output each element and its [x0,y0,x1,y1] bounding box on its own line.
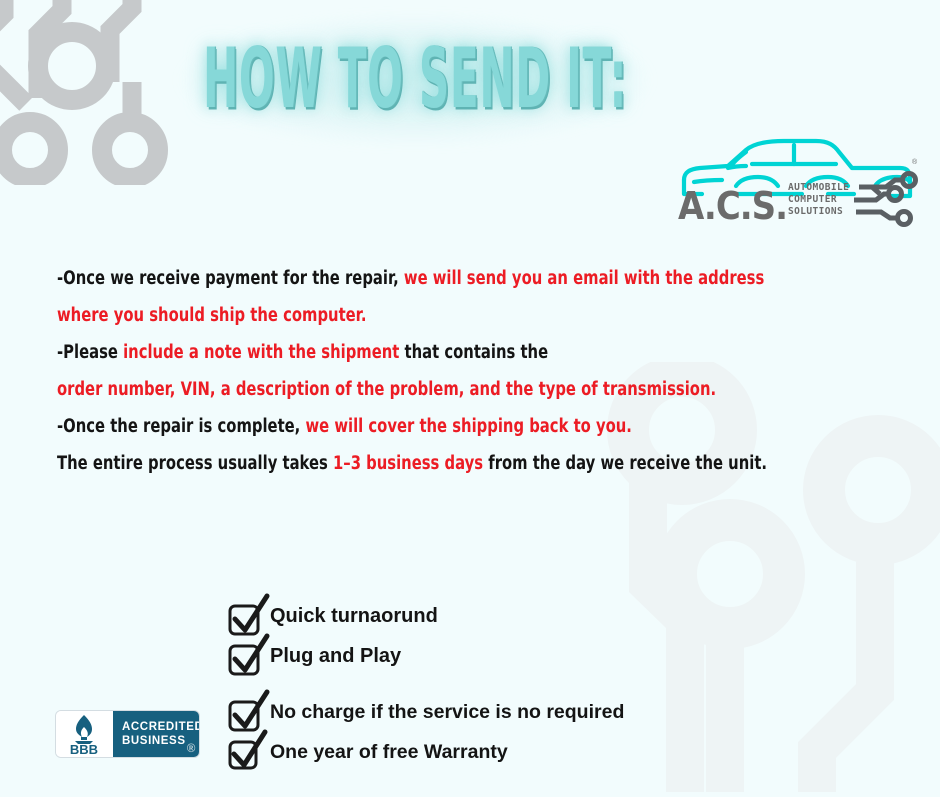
instruction-line-5-red: we will cover the shipping back to you. [300,416,632,437]
instruction-line-6: The entire process usually takes 1–3 bus… [57,453,867,474]
instructions-block: -Once we receive payment for the repair,… [57,268,867,474]
benefits-checklist: Quick turnaorund Plug and Play No charge… [226,596,624,772]
checkbox-checked-icon [226,636,268,676]
instruction-line-1-red: we will send you an email with the addre… [399,268,765,289]
svg-text:BBB: BBB [70,742,98,757]
checkbox-checked-icon [226,692,268,732]
checkbox-checked-icon [226,732,268,772]
instruction-line-1: -Once we receive payment for the repair,… [57,268,867,289]
bbb-accredited-business-badge[interactable]: BBB ACCREDITED BUSINESS ® [56,711,199,757]
instruction-line-4-red: order number, VIN, a description of the … [57,379,716,400]
list-item: Quick turnaorund [226,596,624,636]
page-title-text: HOW TO SEND IT: [158,39,673,122]
instruction-line-2-red: where you should ship the computer. [57,305,367,326]
list-item: No charge if the service is no required [226,692,624,732]
list-item-label: No charge if the service is no required [270,701,624,724]
checkbox-checked-icon [226,596,268,636]
svg-text:SOLUTIONS: SOLUTIONS [788,206,843,217]
svg-text:AUTOMOBILE: AUTOMOBILE [788,182,849,193]
instruction-line-6-black-b: from the day we receive the unit. [483,453,767,474]
instruction-line-3: -Please include a note with the shipment… [57,342,867,363]
instruction-line-3-black-a: -Please [57,342,123,363]
instruction-line-5: -Once the repair is complete, we will co… [57,416,867,437]
svg-text:A.C.S.: A.C.S. [678,184,787,228]
title-glow [180,15,650,145]
svg-text:COMPUTER: COMPUTER [788,194,837,205]
instruction-line-6-red: 1–3 business days [333,453,483,474]
circuit-decoration-top-left [0,0,192,185]
acs-logo: ® A.C.S. AUTOMOBILE COMPUTER SOLUTIONS [676,134,920,230]
bbb-registered-mark: ® [187,742,196,756]
instruction-line-5-black: -Once the repair is complete, [57,416,300,437]
bbb-line-1: ACCREDITED [122,720,199,734]
bbb-logo-panel: BBB [56,711,113,757]
list-item-label: Quick turnaorund [270,605,438,628]
instruction-line-1-black: -Once we receive payment for the repair, [57,268,399,289]
list-item: One year of free Warranty [226,732,624,772]
page-title: HOW TO SEND IT: [0,46,830,114]
instruction-line-3-red: include a note with the shipment [123,342,399,363]
list-item: Plug and Play [226,636,624,676]
instruction-line-2: where you should ship the computer. [57,305,867,326]
instruction-line-4: order number, VIN, a description of the … [57,379,867,400]
instruction-line-6-black-a: The entire process usually takes [57,453,333,474]
svg-text:®: ® [912,158,918,166]
list-item-label: Plug and Play [270,645,401,668]
instruction-line-3-black-b: that contains the [399,342,548,363]
list-item-label: One year of free Warranty [270,741,508,764]
bbb-text-panel: ACCREDITED BUSINESS ® [113,711,199,757]
